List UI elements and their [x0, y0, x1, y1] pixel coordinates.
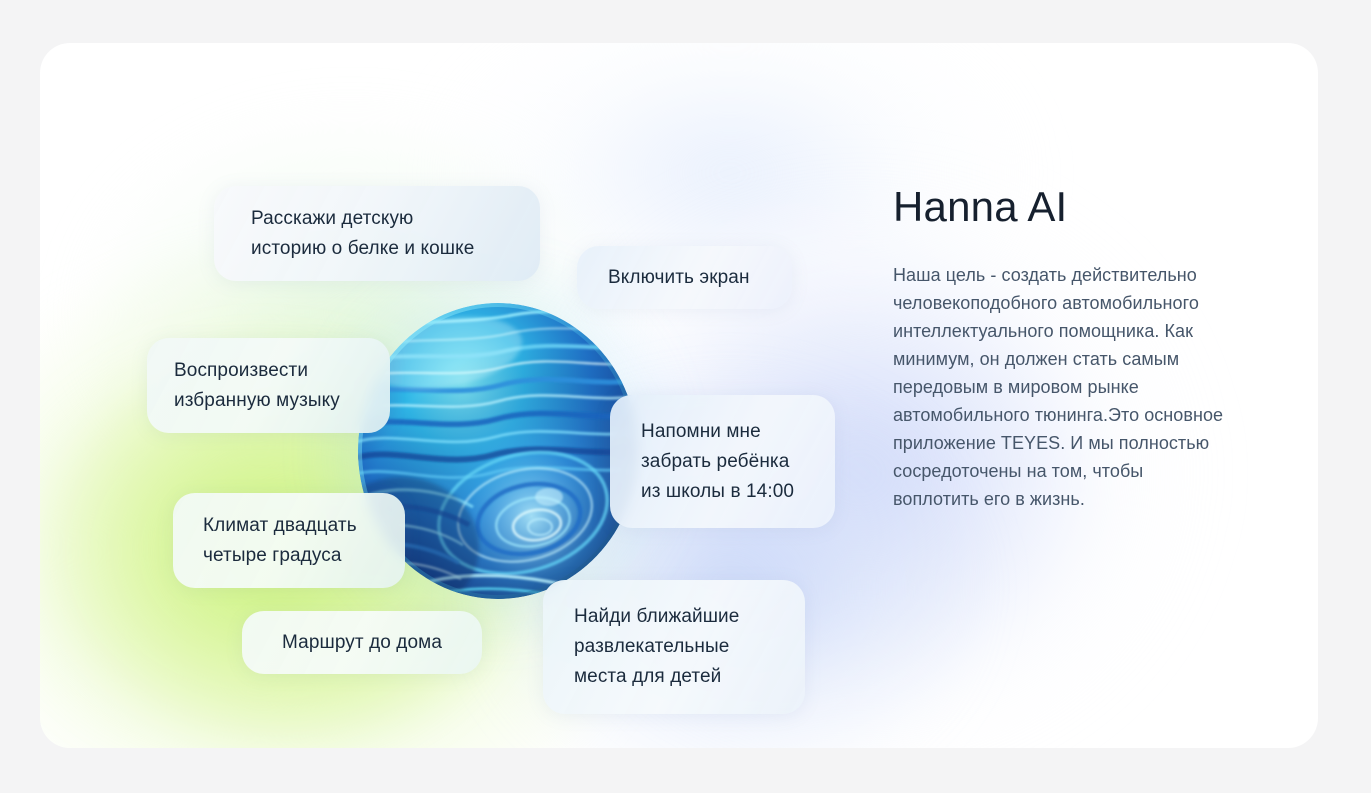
prompt-bubble-label: Воспроизвести избранную музыку	[174, 356, 340, 416]
prompt-bubble-story[interactable]: Расскажи детскую историю о белке и кошке	[214, 186, 540, 281]
hero-card: Расскажи детскую историю о белке и кошке…	[40, 43, 1318, 748]
info-column: Hanna AI Наша цель - создать действитель…	[893, 183, 1293, 513]
prompt-bubble-label: Климат двадцать четыре градуса	[203, 511, 357, 571]
prompt-bubble-label: Включить экран	[608, 263, 750, 293]
page-title: Hanna AI	[893, 183, 1293, 231]
prompt-bubble-music[interactable]: Воспроизвести избранную музыку	[147, 338, 390, 433]
prompt-bubble-climate[interactable]: Климат двадцать четыре градуса	[173, 493, 405, 588]
info-description: Наша цель - создать действительно челове…	[893, 261, 1293, 513]
prompt-bubble-route[interactable]: Маршрут до дома	[242, 611, 482, 674]
prompt-bubble-screen[interactable]: Включить экран	[577, 246, 792, 309]
prompt-bubble-label: Расскажи детскую историю о белке и кошке	[251, 204, 474, 264]
prompt-bubble-entertainment[interactable]: Найди ближайшие развлекательные места дл…	[543, 580, 805, 714]
prompt-bubble-label: Найди ближайшие развлекательные места дл…	[574, 602, 739, 692]
prompt-bubble-reminder[interactable]: Напомни мне забрать ребёнка из школы в 1…	[610, 395, 835, 528]
prompt-bubble-label: Напомни мне забрать ребёнка из школы в 1…	[641, 417, 794, 507]
prompt-bubble-label: Маршрут до дома	[282, 628, 442, 658]
